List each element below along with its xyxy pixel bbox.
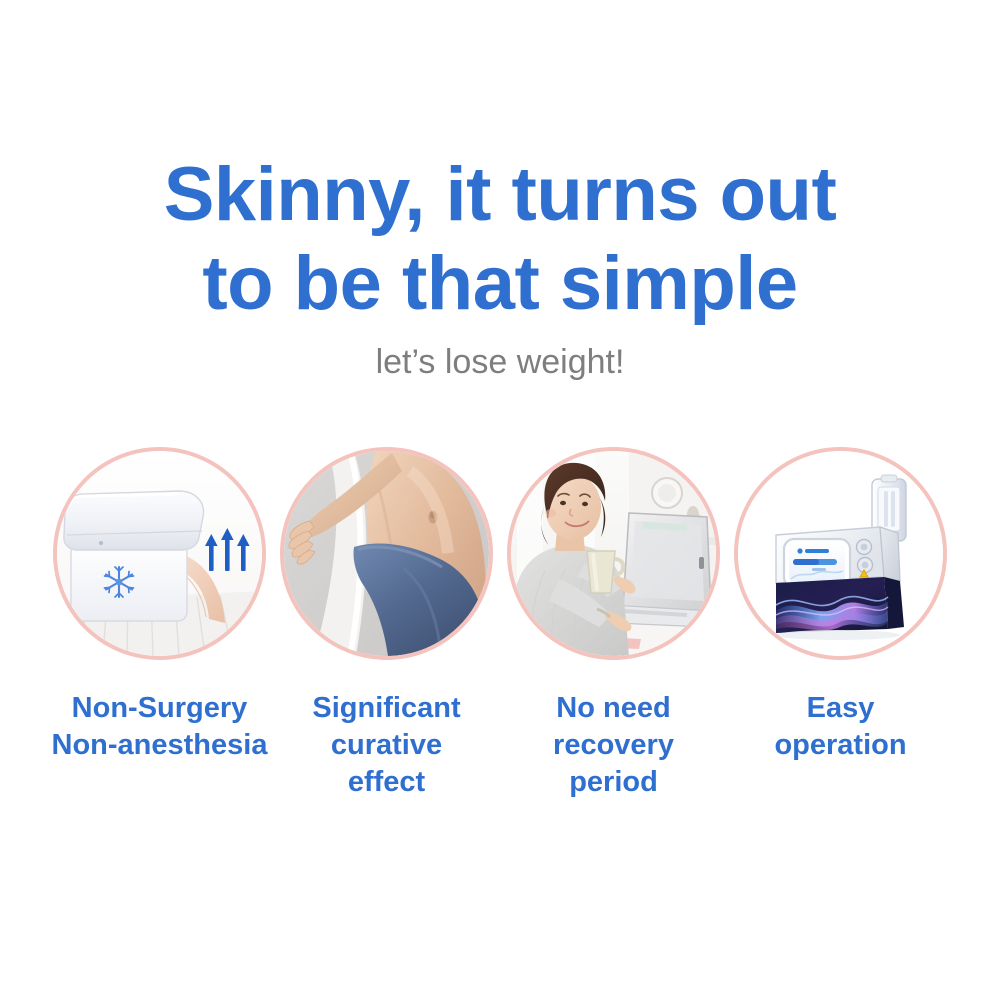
feature-image-circle-1 <box>53 447 266 660</box>
caption-line: operation <box>774 727 906 764</box>
slim-female-torso-photo <box>284 451 489 656</box>
woman-with-laptop-and-mug-photo <box>511 451 716 656</box>
feature-item-significant-effect: Significant curative effect <box>273 447 500 801</box>
feature-image-circle-4 <box>734 447 947 660</box>
feature-item-non-surgery: Non-Surgery Non-anesthesia <box>46 447 273 764</box>
caption-line: No need <box>553 690 674 727</box>
promotional-poster: Skinny, it turns out to be that simple l… <box>0 0 1000 1000</box>
page-title: Skinny, it turns out to be that simple <box>0 150 1000 328</box>
subtitle: let’s lose weight! <box>0 340 1000 384</box>
feature-item-easy-operation: Easy operation <box>727 447 954 764</box>
cryolipolysis-applicator-on-skin-photo <box>57 451 262 656</box>
feature-item-no-recovery: No need recovery period <box>500 447 727 801</box>
feature-caption-3: No need recovery period <box>553 690 674 801</box>
feature-caption-4: Easy operation <box>774 690 906 764</box>
feature-list: Non-Surgery Non-anesthesia <box>0 447 1000 801</box>
caption-line: Non-Surgery <box>52 690 268 727</box>
caption-line: period <box>553 764 674 801</box>
headline-line-2: to be that simple <box>0 239 1000 328</box>
caption-line: recovery <box>553 727 674 764</box>
cryolipolysis-machine-photo <box>738 451 943 656</box>
caption-line: curative <box>312 727 460 764</box>
feature-image-circle-3 <box>507 447 720 660</box>
caption-line: Non-anesthesia <box>52 727 268 764</box>
caption-line: Easy <box>774 690 906 727</box>
caption-line: effect <box>312 764 460 801</box>
feature-caption-1: Non-Surgery Non-anesthesia <box>52 690 268 764</box>
feature-image-circle-2 <box>280 447 493 660</box>
caption-line: Significant <box>312 690 460 727</box>
headline-line-1: Skinny, it turns out <box>0 150 1000 239</box>
feature-caption-2: Significant curative effect <box>312 690 460 801</box>
